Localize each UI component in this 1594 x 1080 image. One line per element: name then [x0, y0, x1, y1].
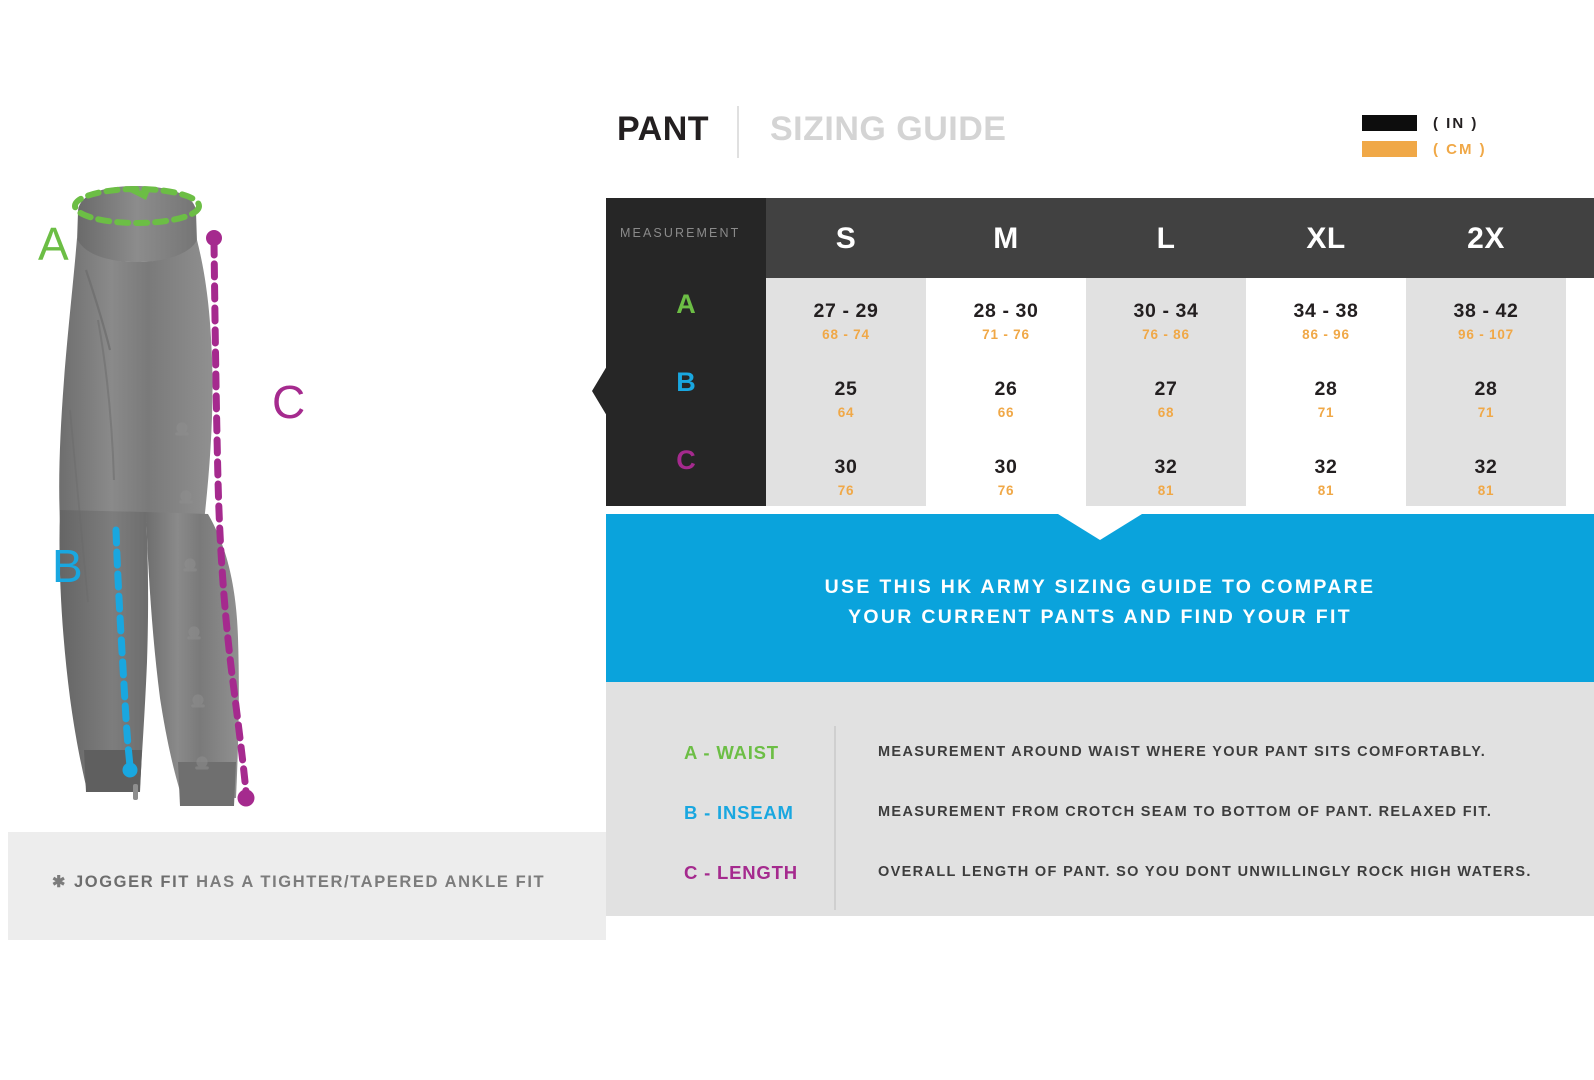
- guide-header: PANT SIZING GUIDE ( IN ) ( CM ): [606, 108, 1594, 164]
- cell-b-l-inches: 27: [1086, 378, 1246, 401]
- measurement-legend: A - WAIST MEASUREMENT AROUND WAIST WHERE…: [606, 682, 1594, 916]
- info-banner: USE THIS HK ARMY SIZING GUIDE TO COMPARE…: [606, 514, 1594, 682]
- cell-c-l: 32 81: [1086, 456, 1246, 501]
- cell-b-m: 26 66: [926, 378, 1086, 423]
- cell-c-m: 30 76: [926, 456, 1086, 501]
- cell-c-m-cm: 76: [926, 481, 1086, 501]
- info-banner-line-1: USE THIS HK ARMY SIZING GUIDE TO COMPARE: [606, 572, 1594, 602]
- cell-b-l: 27 68: [1086, 378, 1246, 423]
- size-header-xl: XL: [1246, 222, 1406, 256]
- cell-c-2x-inches: 32: [1406, 456, 1566, 479]
- cell-b-xl-inches: 28: [1246, 378, 1406, 401]
- cell-c-2x: 32 81: [1406, 456, 1566, 501]
- page-subtitle: SIZING GUIDE: [770, 110, 1006, 149]
- size-header-s: S: [766, 222, 926, 256]
- cell-a-2x-cm: 96 - 107: [1406, 325, 1566, 345]
- pant-illustration: A C B: [0, 150, 606, 840]
- legend-row-length: C - LENGTH OVERALL LENGTH OF PANT. SO YO…: [606, 852, 1594, 912]
- legend-desc-length: OVERALL LENGTH OF PANT. SO YOU DONT UNWI…: [878, 864, 1578, 880]
- cell-a-2x-inches: 38 - 42: [1406, 300, 1566, 323]
- measurement-column: MEASUREMENT A B C: [606, 198, 766, 506]
- size-column-2x: 2X 38 - 42 96 - 107 28 71 32 81: [1406, 278, 1566, 506]
- cell-c-s: 30 76: [766, 456, 926, 501]
- illustration-label-a: A: [38, 218, 69, 270]
- cell-c-2x-cm: 81: [1406, 481, 1566, 501]
- row-letter-a: A: [606, 289, 766, 320]
- legend-key-inseam: B - INSEAM: [684, 802, 844, 824]
- cell-b-s-cm: 64: [766, 403, 926, 423]
- illustration-panel: A C B ✱JOGGER FIT HAS A TIGHTER/TAPERED …: [0, 0, 606, 1080]
- jogger-fit-note: ✱JOGGER FIT HAS A TIGHTER/TAPERED ANKLE …: [52, 872, 592, 892]
- cell-b-xl-cm: 71: [1246, 403, 1406, 423]
- cell-a-xl-inches: 34 - 38: [1246, 300, 1406, 323]
- size-header-l: L: [1086, 222, 1246, 256]
- cell-a-m-inches: 28 - 30: [926, 300, 1086, 323]
- cell-c-l-cm: 81: [1086, 481, 1246, 501]
- cell-a-s-cm: 68 - 74: [766, 325, 926, 345]
- banner-top-notch-icon: [1058, 514, 1142, 540]
- legend-row-waist: A - WAIST MEASUREMENT AROUND WAIST WHERE…: [606, 732, 1594, 792]
- cell-c-xl: 32 81: [1246, 456, 1406, 501]
- sizing-guide-page: A C B ✱JOGGER FIT HAS A TIGHTER/TAPERED …: [0, 0, 1594, 1080]
- unit-label-inches: ( IN ): [1433, 115, 1478, 132]
- cell-a-xl-cm: 86 - 96: [1246, 325, 1406, 345]
- legend-row-inseam: B - INSEAM MEASUREMENT FROM CROTCH SEAM …: [606, 792, 1594, 852]
- legend-key-length: C - LENGTH: [684, 862, 844, 884]
- size-header-2x: 2X: [1406, 222, 1566, 256]
- cell-b-l-cm: 68: [1086, 403, 1246, 423]
- cell-a-l-inches: 30 - 34: [1086, 300, 1246, 323]
- cell-b-m-inches: 26: [926, 378, 1086, 401]
- size-table: MEASUREMENT A B C S 27 - 29 68 - 74 25 6…: [606, 198, 1594, 506]
- size-column-l: L 30 - 34 76 - 86 27 68 32 81: [1086, 278, 1246, 506]
- cell-a-l-cm: 76 - 86: [1086, 325, 1246, 345]
- illustration-label-b: B: [52, 540, 83, 592]
- cell-a-2x: 38 - 42 96 - 107: [1406, 300, 1566, 345]
- size-column-m: M 28 - 30 71 - 76 26 66 30 76: [926, 278, 1086, 506]
- row-letter-c: C: [606, 445, 766, 476]
- orange-swatch-icon: [1362, 141, 1417, 157]
- cell-c-l-inches: 32: [1086, 456, 1246, 479]
- cell-a-xl: 34 - 38 86 - 96: [1246, 300, 1406, 345]
- jogger-fit-rest: HAS A TIGHTER/TAPERED ANKLE FIT: [190, 873, 545, 891]
- cell-c-xl-cm: 81: [1246, 481, 1406, 501]
- cell-b-2x: 28 71: [1406, 378, 1566, 423]
- size-column-xl: XL 34 - 38 86 - 96 28 71 32 81: [1246, 278, 1406, 506]
- title-divider: [737, 106, 739, 158]
- cell-b-s-inches: 25: [766, 378, 926, 401]
- size-header-m: M: [926, 222, 1086, 256]
- legend-desc-waist: MEASUREMENT AROUND WAIST WHERE YOUR PANT…: [878, 744, 1578, 760]
- page-title: PANT: [617, 110, 709, 149]
- black-swatch-icon: [1362, 115, 1417, 131]
- asterisk-icon: ✱: [52, 874, 67, 891]
- cell-a-s: 27 - 29 68 - 74: [766, 300, 926, 345]
- info-banner-line-2: YOUR CURRENT PANTS AND FIND YOUR FIT: [606, 602, 1594, 632]
- cell-b-xl: 28 71: [1246, 378, 1406, 423]
- unit-legend: ( IN ) ( CM ): [1362, 112, 1582, 164]
- cell-b-s: 25 64: [766, 378, 926, 423]
- cell-c-s-inches: 30: [766, 456, 926, 479]
- cell-a-m-cm: 71 - 76: [926, 325, 1086, 345]
- cell-c-m-inches: 30: [926, 456, 1086, 479]
- legend-desc-inseam: MEASUREMENT FROM CROTCH SEAM TO BOTTOM O…: [878, 804, 1578, 820]
- row-letter-b: B: [606, 367, 766, 398]
- legend-key-waist: A - WAIST: [684, 742, 844, 764]
- jogger-fit-emphasis: JOGGER FIT: [74, 873, 190, 891]
- cell-c-xl-inches: 32: [1246, 456, 1406, 479]
- cell-b-m-cm: 66: [926, 403, 1086, 423]
- unit-legend-inches: ( IN ): [1362, 112, 1582, 134]
- cell-a-s-inches: 27 - 29: [766, 300, 926, 323]
- cell-c-s-cm: 76: [766, 481, 926, 501]
- guide-panel: PANT SIZING GUIDE ( IN ) ( CM ) MEASUREM…: [606, 0, 1594, 1080]
- size-column-s: S 27 - 29 68 - 74 25 64 30 76: [766, 278, 926, 506]
- info-banner-text: USE THIS HK ARMY SIZING GUIDE TO COMPARE…: [606, 572, 1594, 632]
- cell-b-2x-cm: 71: [1406, 403, 1566, 423]
- measurement-column-header: MEASUREMENT: [620, 226, 760, 240]
- cell-a-l: 30 - 34 76 - 86: [1086, 300, 1246, 345]
- illustration-label-c: C: [272, 376, 305, 428]
- cell-b-2x-inches: 28: [1406, 378, 1566, 401]
- unit-label-centimeters: ( CM ): [1433, 141, 1487, 158]
- table-left-notch-icon: [592, 366, 607, 416]
- unit-legend-centimeters: ( CM ): [1362, 138, 1582, 160]
- cell-a-m: 28 - 30 71 - 76: [926, 300, 1086, 345]
